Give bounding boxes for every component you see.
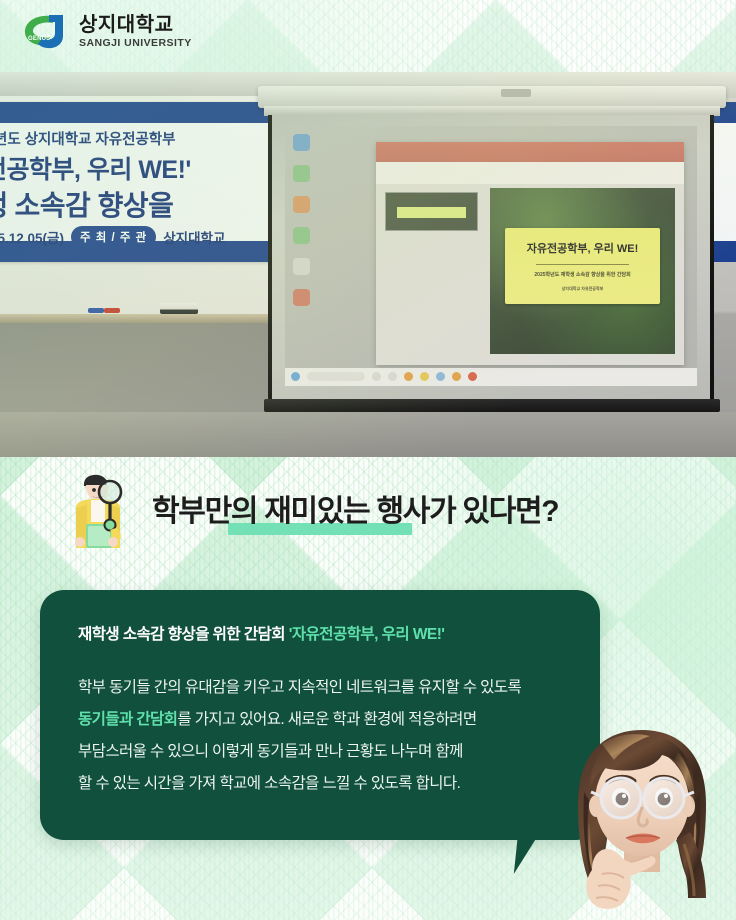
screen-case (258, 86, 726, 108)
card-news-page: GENUS 상지대학교 SANGJI UNIVERSITY 년도 상지대학교 자… (0, 0, 736, 920)
event-photo: 년도 상지대학교 자유전공학부 전공학부, 우리 WE!' 생 소속감 향상을 … (0, 72, 736, 457)
widgets-icon (388, 372, 397, 381)
hero-heading-text: 학부만의 재미있는 행사가 있다면? (152, 495, 558, 528)
screen-bottom-bar (264, 399, 720, 412)
projected-desktop: 자유전공학부, 우리 WE! 2025학년도 재학생 소속감 향상을 위한 간담… (285, 126, 697, 385)
mail-icon (452, 372, 461, 381)
browser-icon (293, 134, 310, 151)
bubble-lead-accent: '자유전공학부, 우리 WE!' (289, 626, 445, 643)
windows-taskbar (285, 368, 697, 386)
explorer-icon (404, 372, 413, 381)
search-box (307, 372, 365, 381)
answer-speech-bubble: 재학생 소속감 향상을 위한 간담회 '자유전공학부, 우리 WE!' 학부 동… (40, 590, 600, 840)
hero-heading: 학부만의 재미있는 행사가 있다면? (152, 486, 558, 530)
slide-subtitle: 2025학년도 재학생 소속감 향상을 위한 간담회 (505, 271, 661, 278)
ppt-slide-thumbnail (385, 192, 478, 232)
mail-icon (293, 165, 310, 182)
powerpoint-window: 자유전공학부, 우리 WE! 2025학년도 재학생 소속감 향상을 위한 간담… (376, 142, 685, 365)
page-header: GENUS 상지대학교 SANGJI UNIVERSITY (0, 0, 736, 72)
ppt-workspace: 자유전공학부, 우리 WE! 2025학년도 재학생 소속감 향상을 위한 간담… (376, 184, 685, 365)
ppt-active-slide: 자유전공학부, 우리 WE! 2025학년도 재학생 소속감 향상을 위한 간담… (490, 188, 675, 354)
logo-wordmark: 상지대학교 SANGJI UNIVERSITY (79, 14, 192, 49)
whiteboard-eraser (160, 303, 198, 314)
chrome-icon (293, 289, 310, 306)
bubble-body-text: 학부 동기들 간의 유대감을 키우고 지속적인 네트워크를 유지할 수 있도록 … (78, 672, 570, 801)
bubble-body-line-1: 학부 동기들 간의 유대감을 키우고 지속적인 네트워크를 유지할 수 있도록 (78, 672, 570, 704)
chrome-icon (436, 372, 445, 381)
screen-surface: 자유전공학부, 우리 WE! 2025학년도 재학생 소속감 향상을 위한 간담… (268, 115, 714, 400)
banner-line-3: 생 소속감 향상을 (0, 184, 173, 224)
bubble-body-line-3: 부담스러울 수 있으니 이렇게 동기들과 만나 근황도 나누며 함께 (78, 736, 570, 768)
edge-icon (420, 372, 429, 381)
bubble-body-line-2-rest: 를 가지고 있어요. 새로운 학과 환경에 적응하려면 (177, 711, 476, 728)
bubble-body-line-4: 할 수 있는 시간을 가져 학교에 소속감을 느낄 수 있도록 합니다. (78, 768, 570, 800)
bubble-body-accent: 동기들과 간담회 (78, 711, 177, 728)
banner-footer: 25.12.05(금) 주 최 / 주 관 상지대학교 (0, 226, 225, 248)
bubble-lead-prefix: 재학생 소속감 향상을 위한 간담회 (78, 626, 289, 643)
projector-screen: 자유전공학부, 우리 WE! 2025학년도 재학생 소속감 향상을 위한 간담… (258, 86, 726, 416)
desktop-icon-column (293, 134, 339, 320)
task-view-icon (372, 372, 381, 381)
bubble-lead-line: 재학생 소속감 향상을 위한 간담회 '자유전공학부, 우리 WE!' (78, 624, 570, 646)
banner-host-name: 상지대학교 (163, 227, 225, 247)
ppt-ribbon-tabs (376, 162, 685, 184)
app-icon (468, 372, 477, 381)
sangji-university-logo-icon: GENUS (22, 12, 70, 50)
hero-section: 학부만의 재미있는 행사가 있다면? (0, 462, 736, 558)
bubble-body-line-2: 동기들과 간담회를 가지고 있어요. 새로운 학과 환경에 적응하려면 (78, 704, 570, 736)
whiteboard-ledge (0, 314, 286, 323)
banner-date: 25.12.05(금) (0, 227, 64, 247)
bubble-content: 재학생 소속감 향상을 위한 간담회 '자유전공학부, 우리 WE!' 학부 동… (78, 624, 570, 801)
slide-footer: 상지대학교 자유전공학부 (505, 286, 661, 292)
media-icon (293, 258, 310, 275)
slide-title: 자유전공학부, 우리 WE! (505, 240, 661, 256)
svg-text:GENUS: GENUS (28, 36, 50, 42)
memoji-woman-thinking-avatar-icon (558, 722, 726, 912)
folder-icon (293, 196, 310, 213)
ppt-title-bar (376, 142, 685, 162)
banner-line-1: 년도 상지대학교 자유전공학부 (0, 128, 175, 149)
red-marker (104, 308, 120, 313)
blue-marker (88, 308, 104, 313)
slide-title-card: 자유전공학부, 우리 WE! 2025학년도 재학생 소속감 향상을 위한 간담… (505, 228, 661, 304)
notes-icon (293, 227, 310, 244)
photo-floor (0, 412, 736, 457)
banner-line-2: 전공학부, 우리 WE!' (0, 150, 191, 186)
speech-bubble-tail (514, 832, 550, 874)
logo-name-korean: 상지대학교 (79, 15, 192, 35)
slide-divider (536, 264, 629, 265)
banner-host-chip: 주 최 / 주 관 (71, 226, 156, 248)
photo-event-banner: 년도 상지대학교 자유전공학부 전공학부, 우리 WE!' 생 소속감 향상을 … (0, 102, 278, 262)
start-icon (291, 372, 300, 381)
logo-name-english: SANGJI UNIVERSITY (79, 38, 192, 49)
university-logo: GENUS 상지대학교 SANGJI UNIVERSITY (22, 12, 192, 50)
student-with-magnifier-illustration-icon (58, 470, 144, 556)
